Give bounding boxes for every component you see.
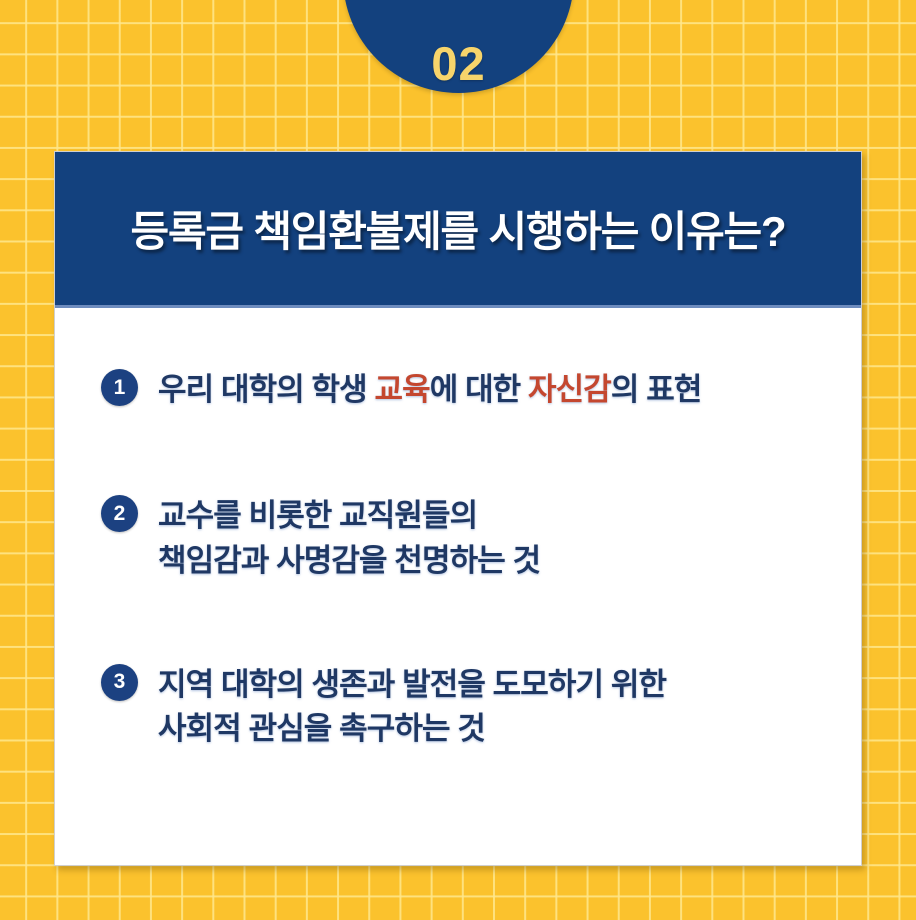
highlighted-phrase: 교육: [374, 372, 429, 407]
reason-item-2: 2 교수를 비롯한 교직원들의책임감과 사명감을 천명하는 것: [101, 494, 821, 583]
reason-text-1: 우리 대학의 학생 교육에 대한 자신감의 표현: [158, 368, 701, 412]
reason-text-2: 교수를 비롯한 교직원들의책임감과 사명감을 천명하는 것: [158, 494, 540, 583]
plain-phrase: 교수를 비롯한 교직원들의: [158, 498, 477, 533]
card-header-band: 등록금 책임환불제를 시행하는 이유는?: [55, 152, 861, 308]
reason-number-badge-2: 2: [101, 495, 138, 532]
reason-text-line2: 사회적 관심을 촉구하는 것: [158, 707, 666, 751]
reason-item-3: 3 지역 대학의 생존과 발전을 도모하기 위한사회적 관심을 촉구하는 것: [101, 663, 821, 752]
reason-item-1: 1 우리 대학의 학생 교육에 대한 자신감의 표현: [101, 368, 821, 412]
plain-phrase: 의 표현: [611, 372, 702, 407]
content-card: 등록금 책임환불제를 시행하는 이유는? 1 우리 대학의 학생 교육에 대한 …: [54, 151, 862, 866]
poster-canvas: 02 등록금 책임환불제를 시행하는 이유는? 1 우리 대학의 학생 교육에 …: [0, 0, 916, 920]
reason-number-badge-3: 3: [101, 664, 138, 701]
plain-phrase: 우리 대학의 학생: [158, 372, 374, 407]
reason-text-line2: 책임감과 사명감을 천명하는 것: [158, 539, 540, 583]
card-body: 1 우리 대학의 학생 교육에 대한 자신감의 표현 2 교수를 비롯한 교직원…: [55, 308, 861, 865]
reason-text-3: 지역 대학의 생존과 발전을 도모하기 위한사회적 관심을 촉구하는 것: [158, 663, 666, 752]
highlighted-phrase: 자신감: [528, 372, 611, 407]
plain-phrase: 지역 대학의 생존과 발전을 도모하기 위한: [158, 667, 666, 702]
card-title: 등록금 책임환불제를 시행하는 이유는?: [131, 198, 786, 259]
reason-number-badge-1: 1: [101, 369, 138, 406]
step-number-badge: 02: [343, 0, 574, 93]
plain-phrase: 에 대한: [430, 372, 528, 407]
step-number-label: 02: [431, 40, 485, 87]
